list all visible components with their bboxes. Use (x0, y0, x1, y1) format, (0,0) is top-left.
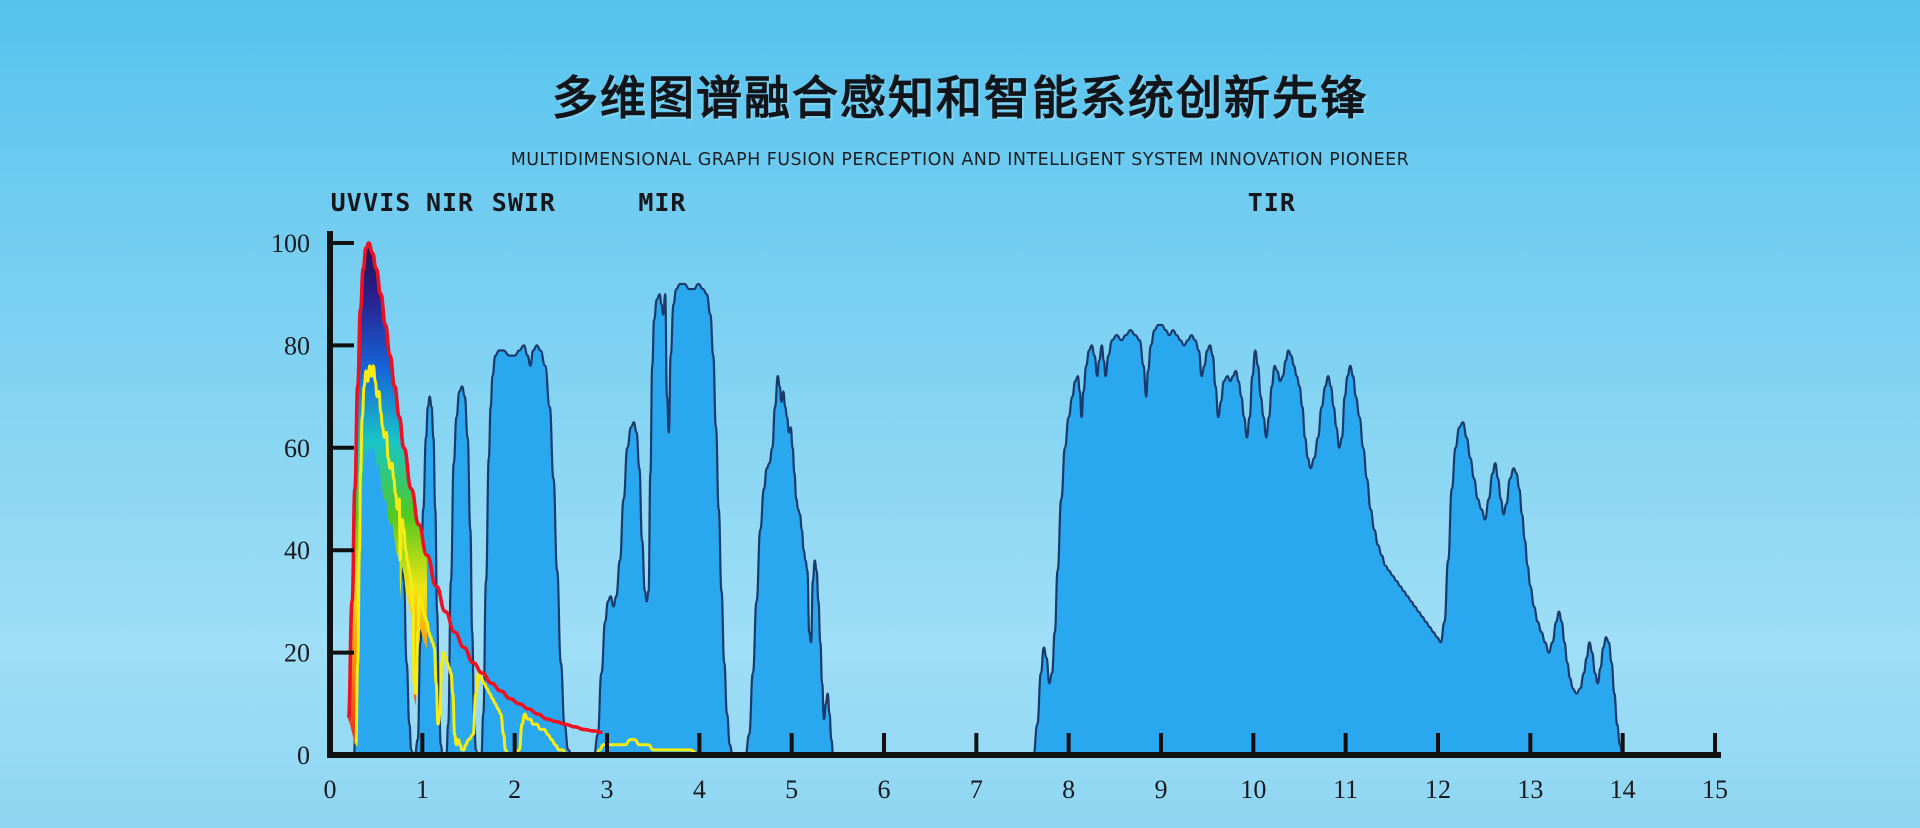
band-label-nir: NIR (426, 188, 474, 217)
band-label-uv: UV (331, 188, 363, 217)
x-tick-label: 12 (1425, 775, 1451, 804)
band-label-mir: MIR (638, 188, 686, 217)
x-tick-label: 9 (1155, 775, 1168, 804)
y-tick-label: 0 (297, 741, 310, 770)
y-tick-label: 20 (284, 639, 310, 668)
x-tick-label: 15 (1702, 775, 1728, 804)
spectrum-chart: 0204060801000123456789101112131415 UVVIS… (0, 195, 1920, 815)
band-label-tir: TIR (1248, 188, 1296, 217)
x-tick-label: 11 (1333, 775, 1358, 804)
band-label-swir: SWIR (492, 188, 556, 217)
y-tick-label: 40 (284, 536, 310, 565)
x-tick-label: 13 (1517, 775, 1543, 804)
page-title: 多维图谱融合感知和智能系统创新先锋 (0, 62, 1920, 128)
band-label-vis: VIS (363, 188, 411, 217)
spectrum-svg: 0204060801000123456789101112131415 UVVIS… (0, 195, 1920, 815)
x-tick-label: 7 (970, 775, 983, 804)
atmospheric-transmission-area (354, 284, 1623, 755)
x-tick-label: 10 (1240, 775, 1266, 804)
y-tick-label: 60 (284, 434, 310, 463)
x-tick-label: 1 (416, 775, 429, 804)
x-tick-label: 4 (693, 775, 706, 804)
y-tick-label: 100 (271, 229, 310, 258)
x-tick-label: 0 (324, 775, 337, 804)
x-tick-label: 2 (508, 775, 521, 804)
x-tick-label: 3 (601, 775, 614, 804)
x-tick-label: 14 (1610, 775, 1636, 804)
x-tick-label: 5 (785, 775, 798, 804)
page-subtitle: MULTIDIMENSIONAL GRAPH FUSION PERCEPTION… (0, 150, 1920, 170)
x-tick-label: 8 (1062, 775, 1075, 804)
x-tick-label: 6 (878, 775, 891, 804)
y-tick-label: 80 (284, 331, 310, 360)
